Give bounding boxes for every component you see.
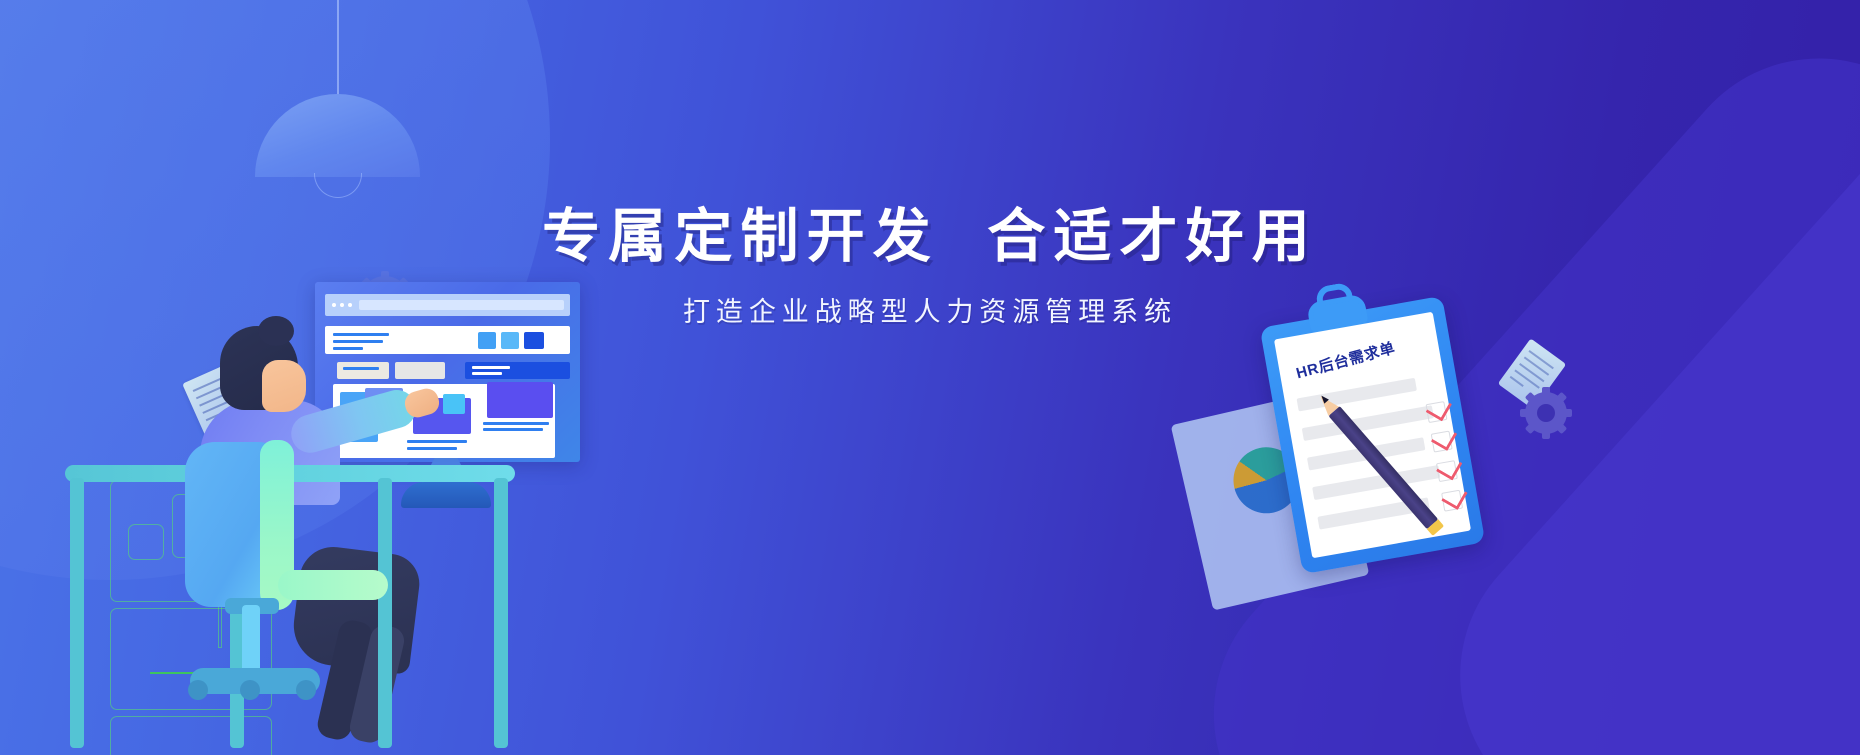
hero-banner: 专属定制开发 合适才好用 打造企业战略型人力资源管理系统 [0, 0, 1860, 755]
clipboard-sheet: HR后台需求单 [1274, 312, 1471, 559]
chair-post [242, 605, 260, 673]
chair-caster-right [296, 680, 316, 700]
person-face [262, 360, 306, 412]
hr-checklist-illustration: HR后台需求单 [1180, 300, 1600, 620]
chair-seat [278, 570, 388, 600]
gear-icon-right [1525, 392, 1567, 434]
chair-caster-mid [240, 680, 260, 700]
developer-illustration [60, 290, 620, 755]
person-hair-bun [258, 316, 294, 346]
checkbox-checked-1[interactable] [1425, 401, 1447, 423]
desk-leg-far-right [494, 478, 508, 748]
pendant-lamp-icon [255, 0, 420, 190]
clipboard-title: HR后台需求单 [1294, 337, 1398, 384]
lamp-cord [337, 0, 339, 98]
chair-caster-left [188, 680, 208, 700]
checkbox-checked-4[interactable] [1441, 490, 1463, 512]
checkbox-checked-3[interactable] [1436, 460, 1458, 482]
checkbox-checked-2[interactable] [1431, 431, 1453, 453]
page-title: 专属定制开发 合适才好用 [0, 205, 1860, 270]
lamp-shade [255, 94, 420, 177]
desk-leg-left [70, 478, 84, 748]
desk-leg-right [378, 478, 392, 748]
monitor-base [401, 482, 491, 508]
